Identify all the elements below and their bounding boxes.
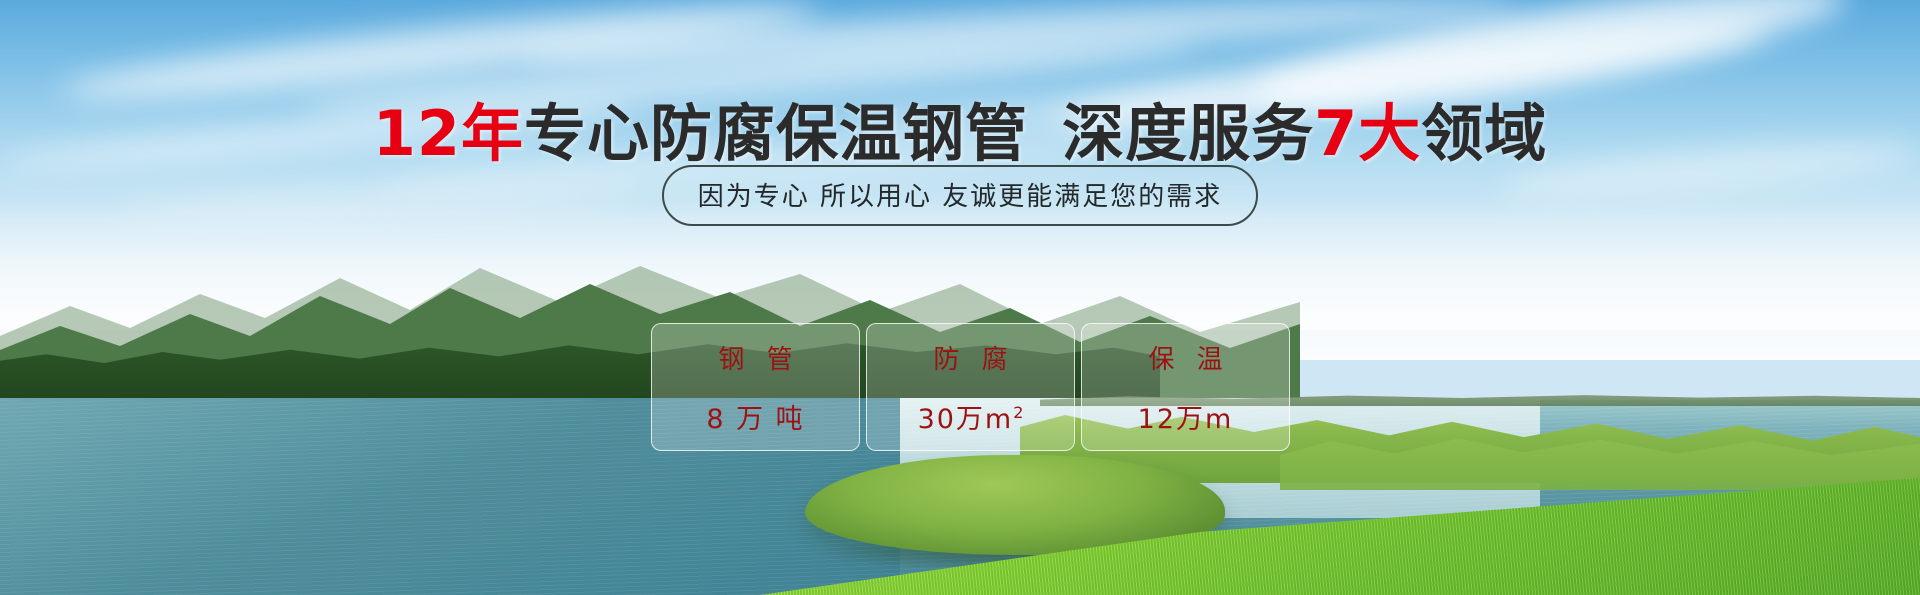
banner-subtitle: 因为专心 所以用心 友诚更能满足您的需求	[662, 165, 1259, 226]
headline-years: 12年	[373, 97, 524, 170]
stat-value-text: 12万m	[1138, 404, 1234, 435]
stat-card-value: 12万m	[1138, 397, 1234, 436]
stat-value-text: 8 万 吨	[706, 404, 804, 435]
stat-card-group: 钢 管 8 万 吨 防 腐 30万m2 保 温 12万m	[651, 323, 1290, 451]
stat-value-text: 30万m	[918, 404, 1014, 435]
headline-service: 深度服务	[1062, 97, 1314, 170]
stat-card-steel-pipe: 钢 管 8 万 吨	[651, 323, 860, 451]
stat-card-title: 保 温	[1141, 346, 1229, 375]
stat-card-value: 8 万 吨	[706, 397, 804, 436]
stat-card-title: 防 腐	[926, 346, 1014, 375]
stat-card-anticorrosion: 防 腐 30万m2	[866, 323, 1075, 451]
stat-card-value: 30万m2	[918, 397, 1024, 436]
stat-card-title: 钢 管	[711, 346, 799, 375]
stat-value-superscript: 2	[1013, 403, 1023, 422]
hero-banner: 12年专心防腐保温钢管深度服务7大领域 因为专心 所以用心 友诚更能满足您的需求…	[0, 0, 1920, 595]
banner-headline: 12年专心防腐保温钢管深度服务7大领域	[0, 83, 1920, 173]
stat-card-insulation: 保 温 12万m	[1081, 323, 1290, 451]
headline-fields: 领域	[1421, 97, 1547, 170]
headline-seven: 7大	[1314, 97, 1421, 170]
headline-focus: 专心防腐保温钢管	[524, 97, 1028, 170]
banner-content: 12年专心防腐保温钢管深度服务7大领域 因为专心 所以用心 友诚更能满足您的需求…	[0, 0, 1920, 595]
banner-subtitle-wrap: 因为专心 所以用心 友诚更能满足您的需求	[0, 165, 1920, 226]
